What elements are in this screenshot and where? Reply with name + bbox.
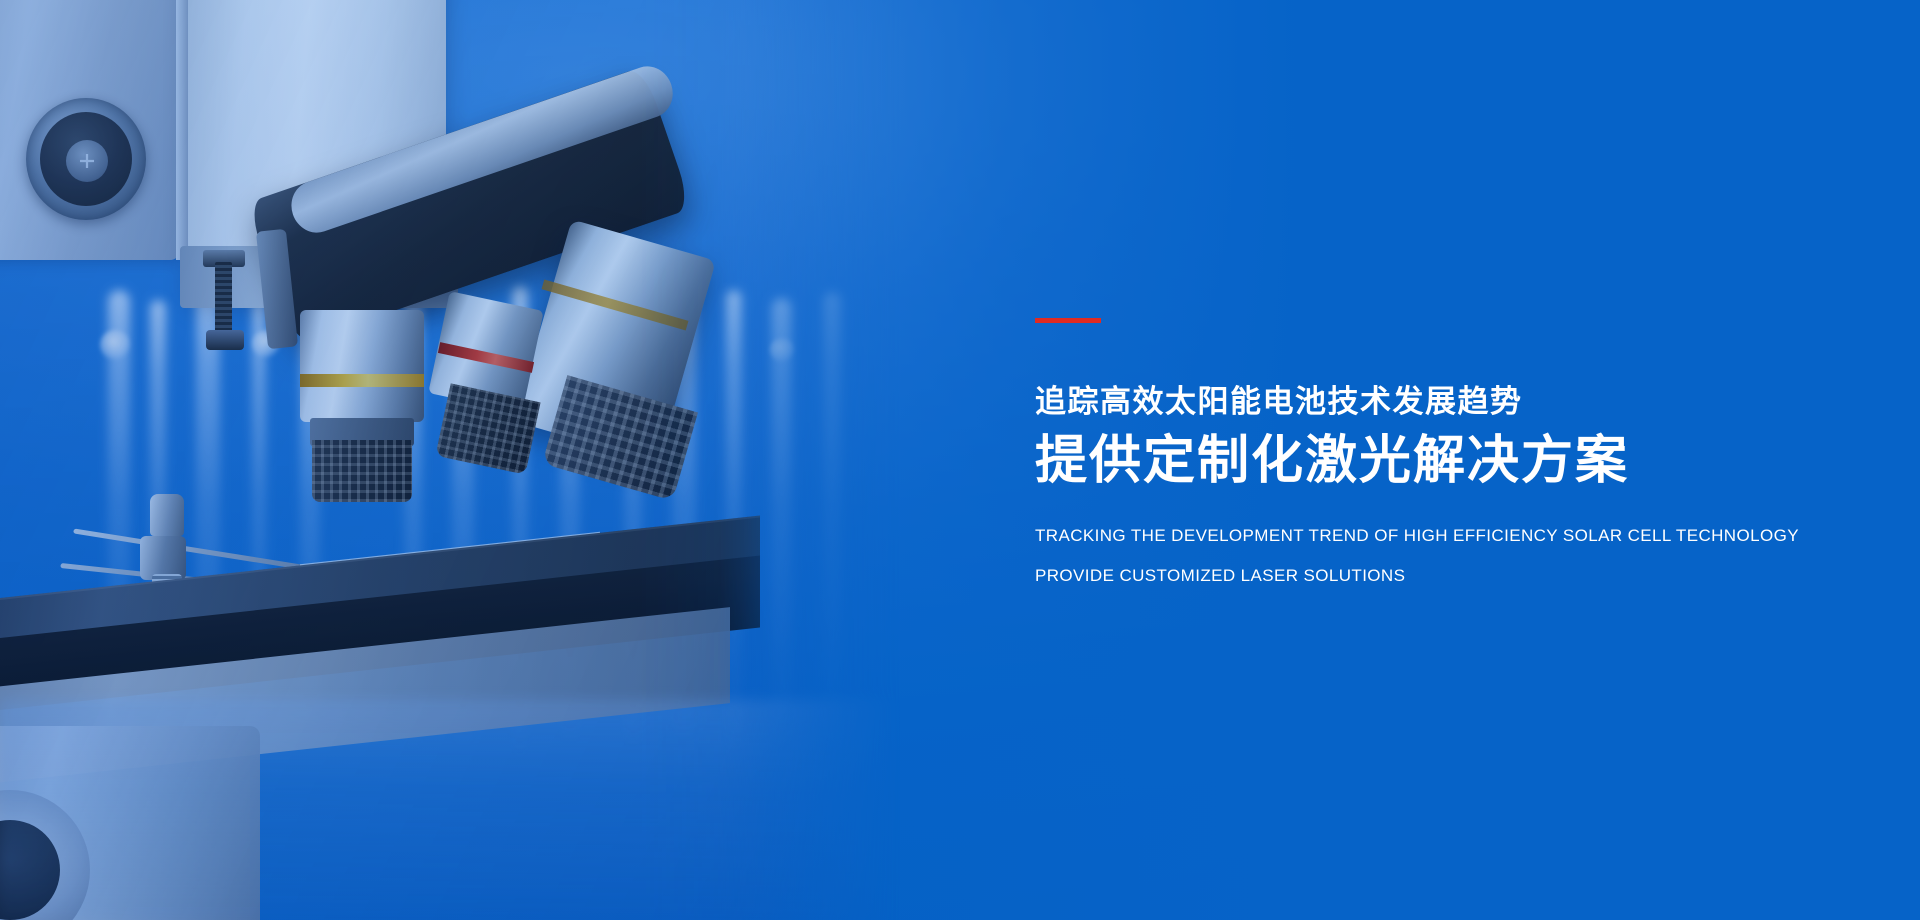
hero-text-block: 追踪高效太阳能电池技术发展趋势 提供定制化激光解决方案 TRACKING THE… <box>1035 318 1755 586</box>
headline-title: 提供定制化激光解决方案 <box>1035 431 1755 492</box>
english-subtitle-line-2: PROVIDE CUSTOMIZED LASER SOLUTIONS <box>1035 566 1755 586</box>
accent-bar <box>1035 318 1101 323</box>
headline-subtitle: 追踪高效太阳能电池技术发展趋势 <box>1035 385 1755 419</box>
hero-banner: 追踪高效太阳能电池技术发展趋势 提供定制化激光解决方案 TRACKING THE… <box>0 0 1920 920</box>
english-subtitle-line-1: TRACKING THE DEVELOPMENT TREND OF HIGH E… <box>1035 526 1755 546</box>
